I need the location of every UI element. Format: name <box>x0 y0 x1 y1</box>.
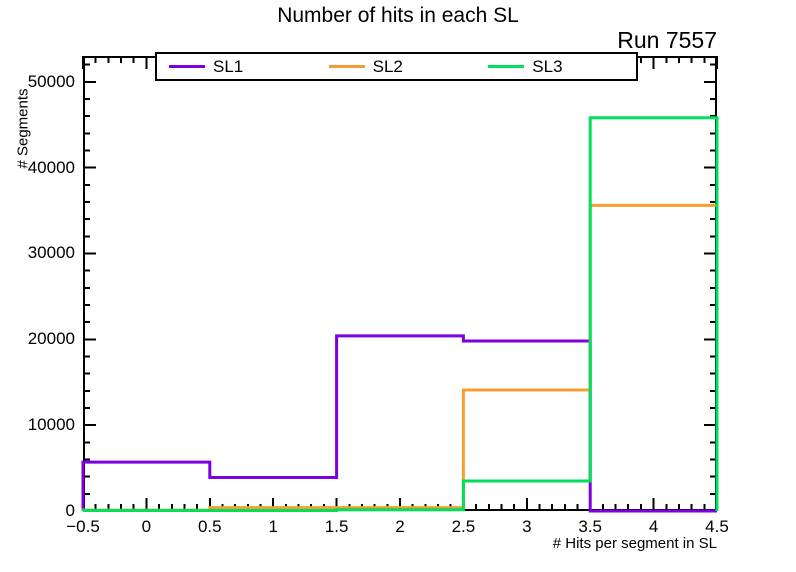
y-tick-label: 20000 <box>5 329 75 349</box>
plot-graphics <box>0 0 796 572</box>
legend-swatch-sl1 <box>169 65 205 68</box>
x-tick-label: 3 <box>497 517 557 537</box>
step-line-sl1 <box>83 336 717 511</box>
series-sl3 <box>83 118 717 511</box>
chart-canvas: Number of hits in each SL Run 7557 # Seg… <box>0 0 796 572</box>
x-tick-label: 0 <box>116 517 176 537</box>
legend-label-sl3: SL3 <box>532 58 562 75</box>
axis-ticks <box>83 56 717 511</box>
x-tick-label: 0.5 <box>180 517 240 537</box>
legend-label-sl2: SL2 <box>373 58 403 75</box>
legend-entry-sl2[interactable]: SL2 <box>317 58 477 75</box>
x-tick-label: 4.5 <box>687 517 747 537</box>
y-tick-label: 30000 <box>5 243 75 263</box>
step-line-sl3 <box>83 118 717 511</box>
x-tick-label: 1 <box>243 517 303 537</box>
series-sl1 <box>83 336 717 511</box>
legend-entry-sl3[interactable]: SL3 <box>476 58 636 75</box>
series-layer <box>83 118 717 511</box>
x-tick-label: 1.5 <box>307 517 367 537</box>
x-tick-label: 3.5 <box>560 517 620 537</box>
y-tick-label: 50000 <box>5 72 75 92</box>
legend-swatch-sl2 <box>329 65 365 68</box>
legend-swatch-sl3 <box>488 65 524 68</box>
step-line-sl2 <box>83 205 717 511</box>
y-tick-label: 10000 <box>5 415 75 435</box>
y-tick-label: 40000 <box>5 158 75 178</box>
x-tick-label: 2.5 <box>433 517 493 537</box>
x-tick-label: −0.5 <box>53 517 113 537</box>
legend[interactable]: SL1 SL2 SL3 <box>155 52 638 81</box>
legend-label-sl1: SL1 <box>213 58 243 75</box>
legend-entry-sl1[interactable]: SL1 <box>157 58 317 75</box>
series-sl2 <box>83 205 717 511</box>
x-tick-label: 2 <box>370 517 430 537</box>
x-tick-label: 4 <box>624 517 684 537</box>
